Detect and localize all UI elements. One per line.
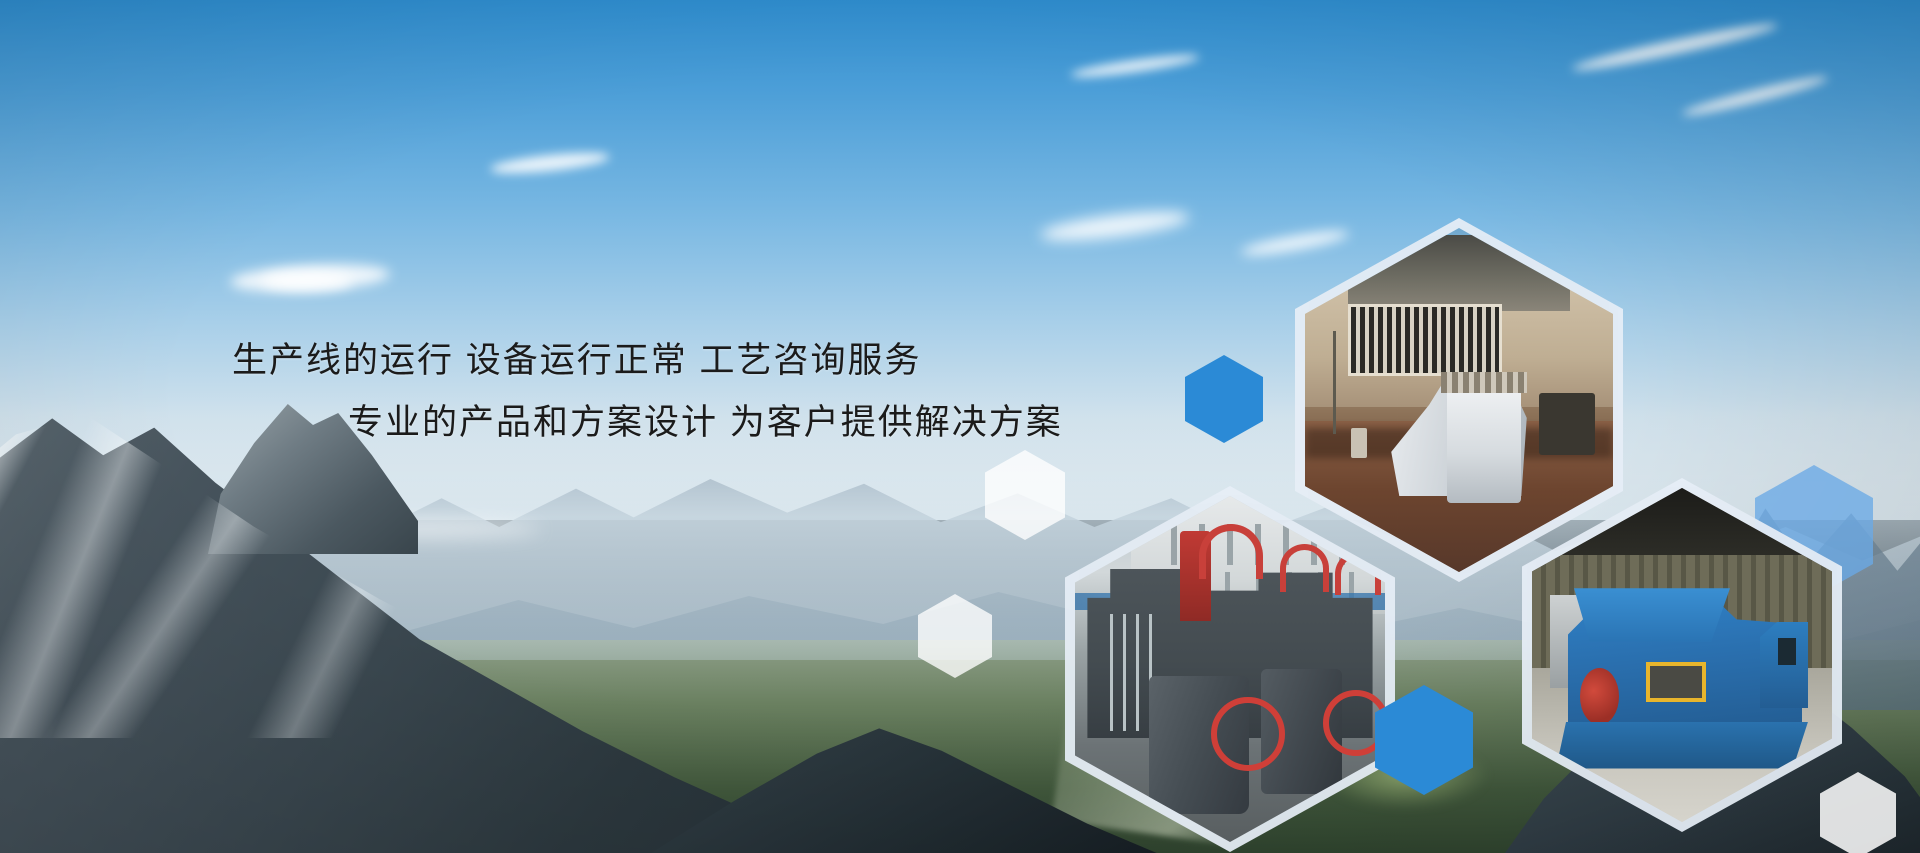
- hex-photo-inner: [1075, 496, 1385, 842]
- photo-drum: [1351, 428, 1366, 459]
- photo-industrial-separator-machine: [1305, 228, 1613, 572]
- hero-banner: 生产线的运行 设备运行正常 工艺咨询服务 专业的产品和方案设计 为客户提供解决方…: [0, 0, 1920, 853]
- photo-red-hose: [1280, 544, 1329, 592]
- photo-pole: [1333, 331, 1336, 434]
- photo-dark-object: [1539, 393, 1594, 455]
- headline-line-1: 生产线的运行 设备运行正常 工艺咨询服务: [0, 330, 1150, 392]
- photo-grey-press-machines: [1075, 496, 1385, 842]
- hex-photo-inner: [1532, 488, 1832, 822]
- photo-machine-base: [1556, 722, 1808, 769]
- photo-red-handwheel: [1211, 697, 1285, 771]
- headline-line-2: 专业的产品和方案设计 为客户提供解决方案: [0, 392, 1150, 454]
- photo-shredder-hopper: [1574, 588, 1730, 641]
- photo-machine-drum: [1447, 379, 1521, 503]
- photo-flange-bolts: [1441, 372, 1527, 393]
- photo-cabinet-window: [1778, 638, 1796, 665]
- photo-window: [1348, 304, 1502, 376]
- headline-block: 生产线的运行 设备运行正常 工艺咨询服务 专业的产品和方案设计 为客户提供解决方…: [0, 330, 1150, 454]
- cloud: [262, 272, 352, 290]
- hex-photo-inner: [1305, 228, 1613, 572]
- photo-blue-shredder-machine: [1532, 488, 1832, 822]
- photo-yellow-guard: [1646, 662, 1706, 702]
- photo-red-motor: [1580, 668, 1619, 725]
- photo-red-hose: [1199, 524, 1263, 579]
- photo-railing: [1100, 614, 1156, 732]
